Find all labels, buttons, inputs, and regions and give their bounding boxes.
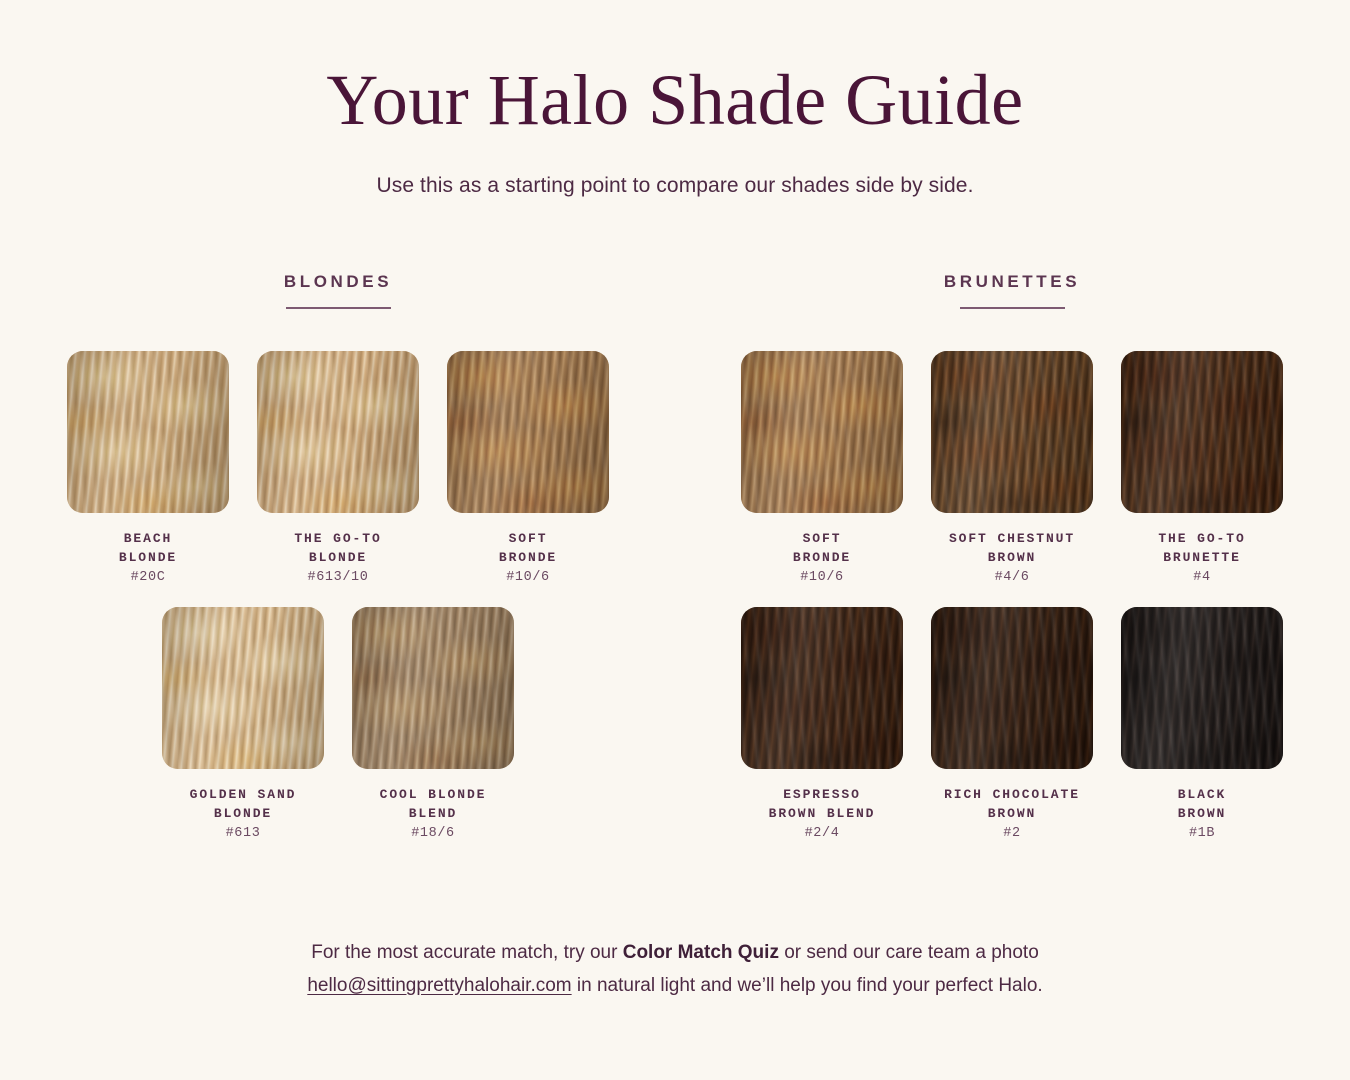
hair-sheen (931, 607, 1093, 769)
shade-code: #2 (1003, 826, 1020, 841)
hair-sheen (741, 607, 903, 769)
shade-card[interactable]: SOFT CHESTNUT BROWN #4/6 (917, 351, 1107, 585)
shade-code: #18/6 (411, 826, 455, 841)
shade-code: #20C (131, 570, 166, 585)
shade-columns: BLONDES BEACH BLONDE #20C THE GO-TO BLON… (0, 272, 1350, 841)
shade-card[interactable]: THE GO-TO BLONDE #613/10 (243, 351, 433, 585)
shade-card[interactable]: GOLDEN SAND BLONDE #613 (148, 607, 338, 841)
shade-code: #4 (1193, 570, 1210, 585)
shade-code: #10/6 (506, 570, 550, 585)
shade-name: RICH CHOCOLATE BROWN (944, 785, 1080, 824)
shade-code: #613/10 (308, 570, 369, 585)
shade-swatch (1121, 351, 1283, 513)
hair-sheen (1121, 607, 1283, 769)
shade-card[interactable]: BLACK BROWN #1B (1107, 607, 1297, 841)
footer-line-2: hello@sittingprettyhalohair.com in natur… (0, 969, 1350, 1002)
group-blondes: BLONDES BEACH BLONDE #20C THE GO-TO BLON… (23, 272, 653, 841)
hair-sheen (162, 607, 324, 769)
shade-card[interactable]: COOL BLONDE BLEND #18/6 (338, 607, 528, 841)
hair-sheen (741, 351, 903, 513)
group-blondes-header: BLONDES (23, 272, 653, 309)
shade-swatch (741, 607, 903, 769)
group-brunettes-title: BRUNETTES (944, 272, 1080, 307)
shade-swatch (352, 607, 514, 769)
shade-swatch (741, 351, 903, 513)
support-email-link[interactable]: hello@sittingprettyhalohair.com (307, 975, 571, 996)
shade-card[interactable]: BEACH BLONDE #20C (53, 351, 243, 585)
group-brunettes: BRUNETTES SOFT BRONDE #10/6 SOFT CHESTNU… (697, 272, 1327, 841)
shade-name: COOL BLONDE BLEND (380, 785, 487, 824)
shade-swatch (1121, 607, 1283, 769)
hair-sheen (352, 607, 514, 769)
page-title: Your Halo Shade Guide (0, 62, 1350, 140)
shade-name: GOLDEN SAND BLONDE (190, 785, 297, 824)
shade-name: BLACK BROWN (1178, 785, 1227, 824)
footer-line-1: For the most accurate match, try our Col… (0, 936, 1350, 969)
shade-code: #10/6 (800, 570, 844, 585)
shade-name: THE GO-TO BLONDE (294, 529, 381, 568)
page-subtitle: Use this as a starting point to compare … (0, 174, 1350, 198)
color-match-quiz-link[interactable]: Color Match Quiz (623, 942, 779, 963)
hair-sheen (931, 351, 1093, 513)
shade-swatch (257, 351, 419, 513)
shade-card[interactable]: RICH CHOCOLATE BROWN #2 (917, 607, 1107, 841)
footer-text-pre: For the most accurate match, try our (311, 942, 623, 963)
footer-text-post: or send our care team a photo (779, 942, 1039, 963)
shade-code: #4/6 (995, 570, 1030, 585)
shade-swatch (67, 351, 229, 513)
blondes-row-1: BEACH BLONDE #20C THE GO-TO BLONDE #613/… (23, 351, 653, 585)
group-brunettes-rule (960, 307, 1065, 309)
shade-name: SOFT BRONDE (499, 529, 557, 568)
shade-card[interactable]: SOFT BRONDE #10/6 (727, 351, 917, 585)
shade-swatch (931, 351, 1093, 513)
shade-card[interactable]: SOFT BRONDE #10/6 (433, 351, 623, 585)
shade-code: #613 (226, 826, 261, 841)
shade-swatch (162, 607, 324, 769)
hair-sheen (1121, 351, 1283, 513)
footer-text-tail: in natural light and we’ll help you find… (572, 975, 1043, 996)
group-brunettes-header: BRUNETTES (697, 272, 1327, 309)
shade-swatch (931, 607, 1093, 769)
hair-sheen (257, 351, 419, 513)
brunettes-row-2: ESPRESSO BROWN BLEND #2/4 RICH CHOCOLATE… (697, 607, 1327, 841)
header: Your Halo Shade Guide Use this as a star… (0, 0, 1350, 198)
shade-name: SOFT BRONDE (793, 529, 851, 568)
shade-code: #1B (1189, 826, 1215, 841)
group-blondes-rule (286, 307, 391, 309)
shade-card[interactable]: THE GO-TO BRUNETTE #4 (1107, 351, 1297, 585)
shade-name: ESPRESSO BROWN BLEND (769, 785, 876, 824)
shade-code: #2/4 (805, 826, 840, 841)
hair-sheen (67, 351, 229, 513)
shade-card[interactable]: ESPRESSO BROWN BLEND #2/4 (727, 607, 917, 841)
group-blondes-title: BLONDES (284, 272, 392, 307)
shade-name: THE GO-TO BRUNETTE (1158, 529, 1245, 568)
footer: For the most accurate match, try our Col… (0, 936, 1350, 1003)
shade-guide-page: Your Halo Shade Guide Use this as a star… (0, 0, 1350, 1080)
shade-swatch (447, 351, 609, 513)
brunettes-row-1: SOFT BRONDE #10/6 SOFT CHESTNUT BROWN #4… (697, 351, 1327, 585)
shade-name: BEACH BLONDE (119, 529, 177, 568)
hair-sheen (447, 351, 609, 513)
shade-name: SOFT CHESTNUT BROWN (949, 529, 1075, 568)
blondes-row-2: GOLDEN SAND BLONDE #613 COOL BLONDE BLEN… (23, 607, 653, 841)
